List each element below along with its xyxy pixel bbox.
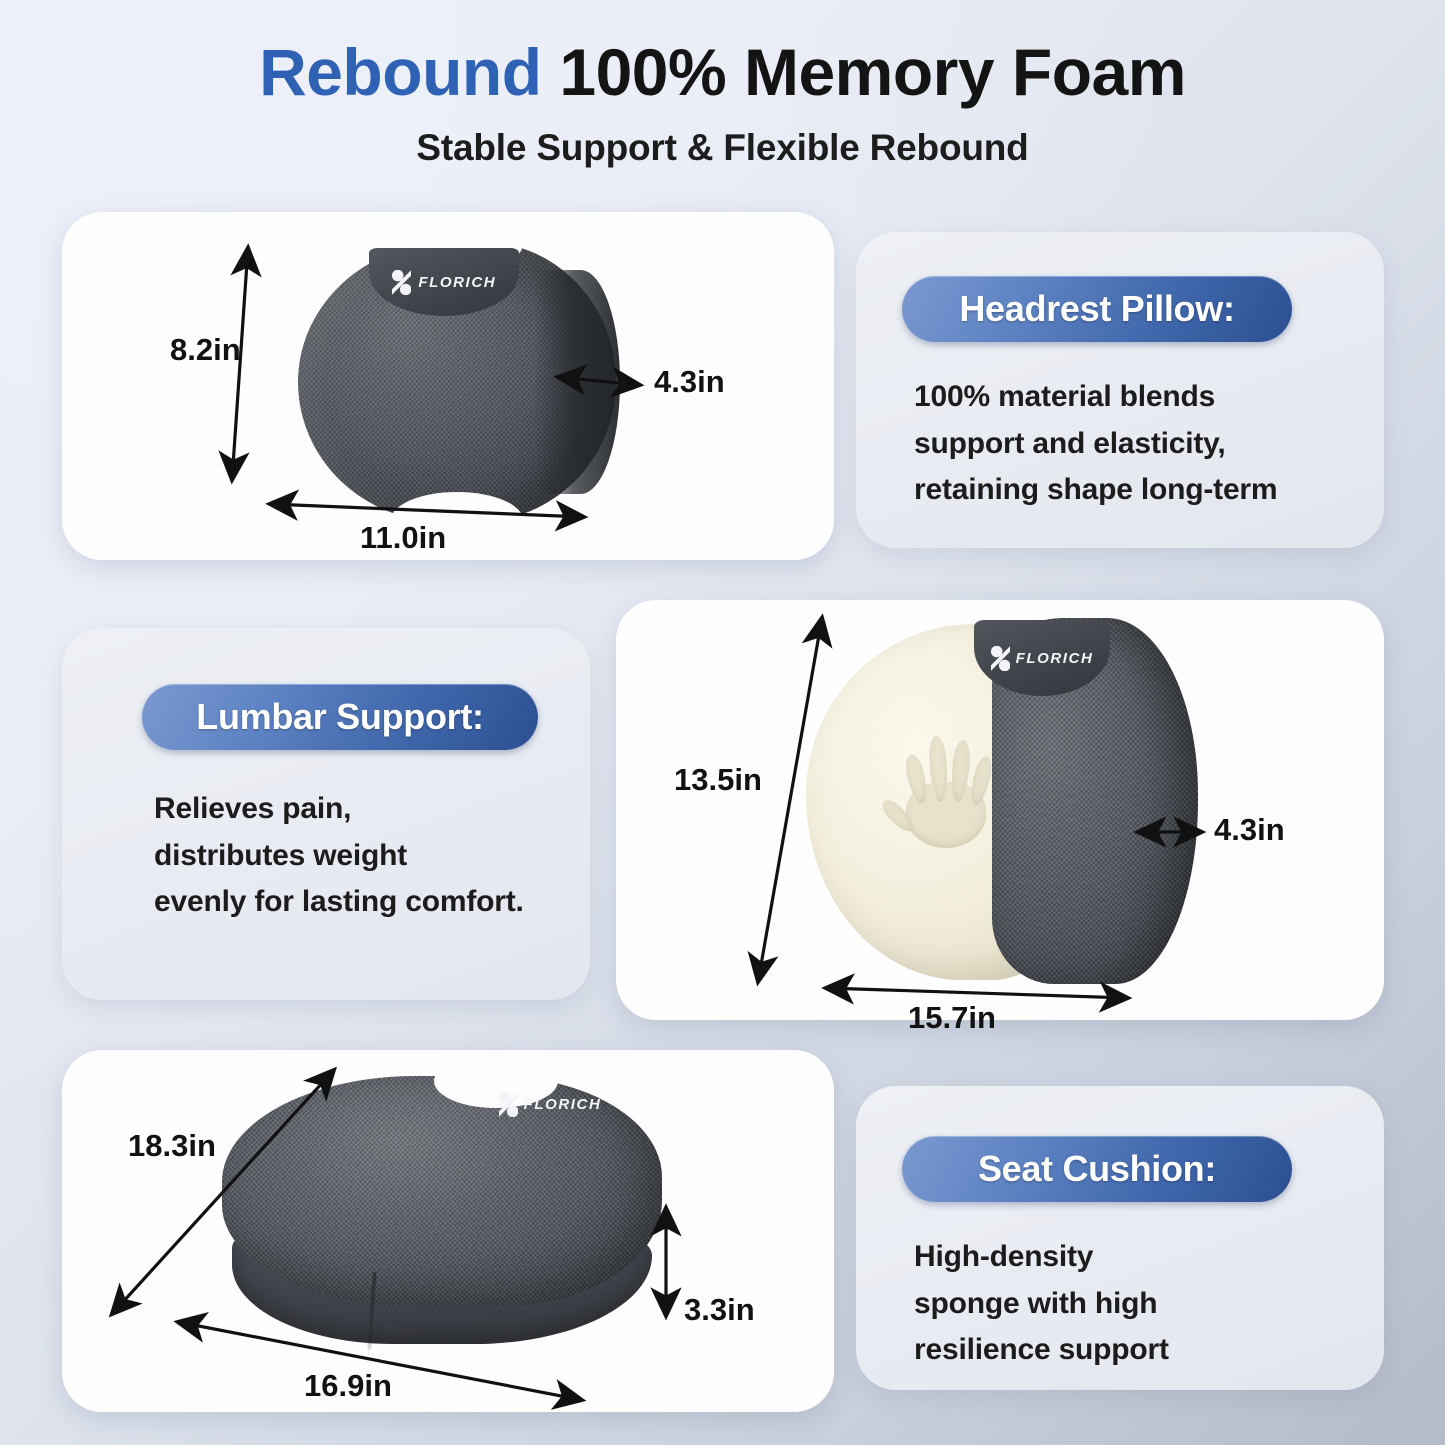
seat-cushion-image-card: FLORICH 18.3in 16.9in 3.3in	[62, 1050, 834, 1412]
headrest-desc-line-2: support and elasticity,	[914, 421, 1277, 468]
florich-logo-icon	[392, 270, 411, 295]
lumbar-desc-line-3: evenly for lasting comfort.	[154, 879, 524, 926]
pillow-side-panel	[534, 270, 620, 494]
lumbar-support-illustration: FLORICH	[806, 618, 1198, 988]
brand-name: FLORICH	[1016, 650, 1094, 667]
brand-name: FLORICH	[418, 274, 496, 291]
headrest-description: 100% material blends support and elastic…	[914, 374, 1277, 514]
headrest-pillow-illustration: FLORICH	[298, 242, 616, 522]
title-rest: 100% Memory Foam	[559, 35, 1186, 109]
dim-headrest-height: 8.2in	[170, 332, 241, 368]
title-accent: Rebound	[259, 35, 541, 109]
seat-desc-line-3: resilience support	[914, 1327, 1169, 1374]
dim-lumbar-height: 13.5in	[674, 762, 762, 798]
brand-name: FLORICH	[524, 1096, 602, 1113]
page-title: Rebound 100% Memory Foam	[0, 38, 1445, 107]
seat-cushion-text-card: Seat Cushion: High-density sponge with h…	[856, 1086, 1384, 1390]
headrest-desc-line-3: retaining shape long-term	[914, 467, 1277, 514]
page-subtitle: Stable Support & Flexible Rebound	[0, 127, 1445, 169]
infographic-canvas: Rebound 100% Memory Foam Stable Support …	[0, 0, 1445, 1445]
handprint-indentation	[892, 720, 1004, 848]
header: Rebound 100% Memory Foam Stable Support …	[0, 38, 1445, 169]
florich-logo-icon	[499, 1092, 518, 1117]
brand-label-patch: FLORICH	[480, 1086, 620, 1122]
badge-lumbar-support: Lumbar Support:	[142, 684, 538, 750]
lumbar-description: Relieves pain, distributes weight evenly…	[154, 786, 524, 926]
lumbar-desc-line-2: distributes weight	[154, 833, 524, 880]
headrest-text-card: Headrest Pillow: 100% material blends su…	[856, 232, 1384, 548]
dim-seat-width: 16.9in	[304, 1368, 392, 1404]
badge-seat-cushion: Seat Cushion:	[902, 1136, 1292, 1202]
dim-lumbar-depth: 4.3in	[1214, 812, 1285, 848]
seat-cushion-illustration: FLORICH	[222, 1076, 662, 1376]
lumbar-image-card: FLORICH 13.5in 15.7in 4.3in	[616, 600, 1384, 1020]
dim-headrest-depth: 4.3in	[654, 364, 725, 400]
badge-headrest-pillow: Headrest Pillow:	[902, 276, 1292, 342]
headrest-desc-line-1: 100% material blends	[914, 374, 1277, 421]
seat-description: High-density sponge with high resilience…	[914, 1234, 1169, 1374]
dim-seat-thickness: 3.3in	[684, 1292, 755, 1328]
dim-lumbar-width: 15.7in	[908, 1000, 996, 1036]
seat-desc-line-1: High-density	[914, 1234, 1169, 1281]
florich-logo-icon	[991, 646, 1010, 671]
headrest-image-card: FLORICH 8.2in 11.0in 4.3in	[62, 212, 834, 560]
dim-headrest-width: 11.0in	[360, 520, 446, 556]
dim-seat-depth: 18.3in	[128, 1128, 216, 1164]
handprint-finger-4	[968, 755, 995, 807]
lumbar-text-card: Lumbar Support: Relieves pain, distribut…	[62, 628, 590, 1000]
lumbar-desc-line-1: Relieves pain,	[154, 786, 524, 833]
seat-desc-line-2: sponge with high	[914, 1281, 1169, 1328]
